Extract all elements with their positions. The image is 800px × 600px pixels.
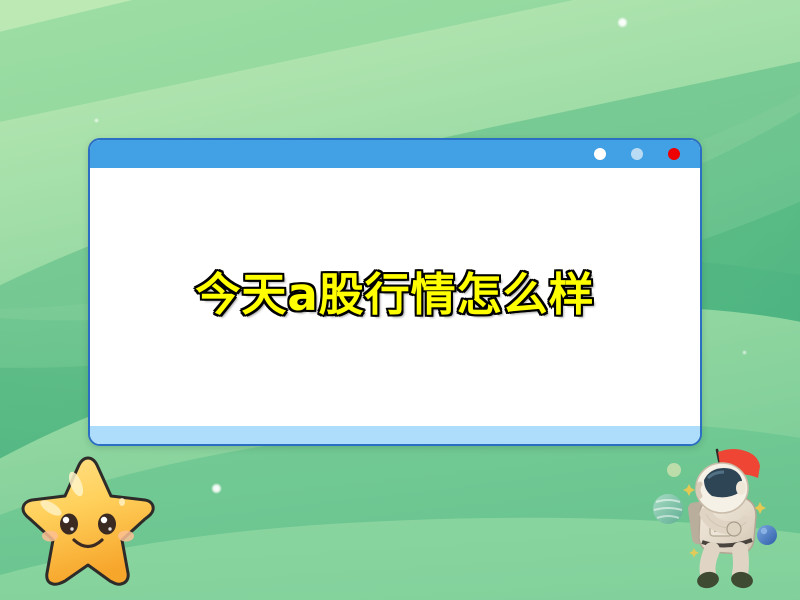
app-window: 今天a股行情怎么样 [88,138,702,446]
boot-left [696,570,721,590]
planet-pale-green [667,463,681,477]
headline-text: 今天a股行情怎么样 [195,272,594,317]
maximize-dot-icon[interactable] [631,148,643,160]
window-titlebar[interactable] [90,140,700,168]
window-content: 今天a股行情怎么样 [90,168,700,426]
smiling-star-mascot [14,450,162,590]
minimize-dot-icon[interactable] [594,148,606,160]
planet-blue [757,525,777,545]
close-dot-icon[interactable] [668,148,680,160]
planet-striped-teal [653,494,683,524]
page-canvas: 今天a股行情怎么样 [0,0,800,600]
astronaut-with-flag [648,440,800,600]
window-footer-strip [90,426,700,444]
